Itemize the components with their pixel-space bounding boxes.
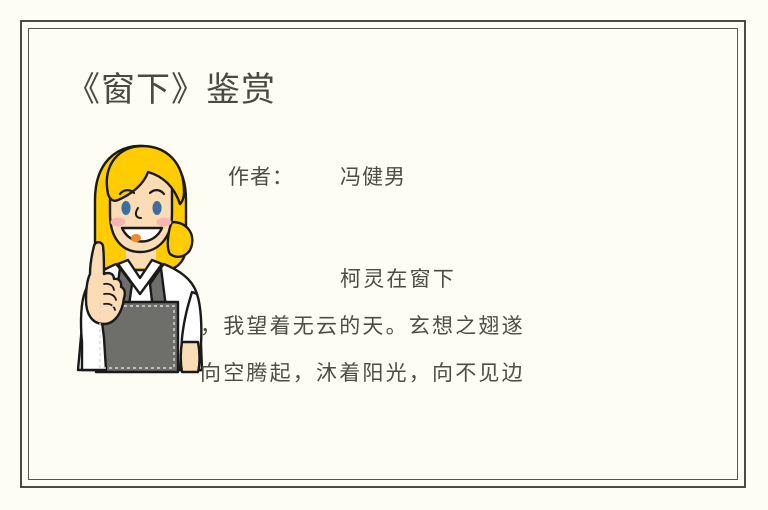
page-title: 《窗下》鉴赏 xyxy=(66,62,276,111)
author-block: 作者： 冯健男 xyxy=(228,160,658,194)
document-page: 《窗下》鉴赏 xyxy=(0,0,768,510)
body-line-3: 向空腾起，沐着阳光，向不见边 xyxy=(200,350,660,397)
cartoon-girl-illustration xyxy=(62,142,212,374)
eye-right xyxy=(152,201,161,215)
body-line-2: ，我望着无云的天。玄想之翅遂 xyxy=(200,303,660,350)
author-line: 作者： 冯健男 xyxy=(228,160,658,194)
cheek-right xyxy=(157,218,172,227)
tongue xyxy=(131,234,141,242)
body-text-block: 柯灵在窗下 ，我望着无云的天。玄想之翅遂 向空腾起，沐着阳光，向不见边 xyxy=(200,256,660,397)
cheek-left xyxy=(111,218,126,227)
hand-right xyxy=(181,342,200,372)
eye-left xyxy=(121,201,130,215)
hair-ponytail xyxy=(168,222,192,257)
body-line-1: 柯灵在窗下 xyxy=(200,256,660,303)
